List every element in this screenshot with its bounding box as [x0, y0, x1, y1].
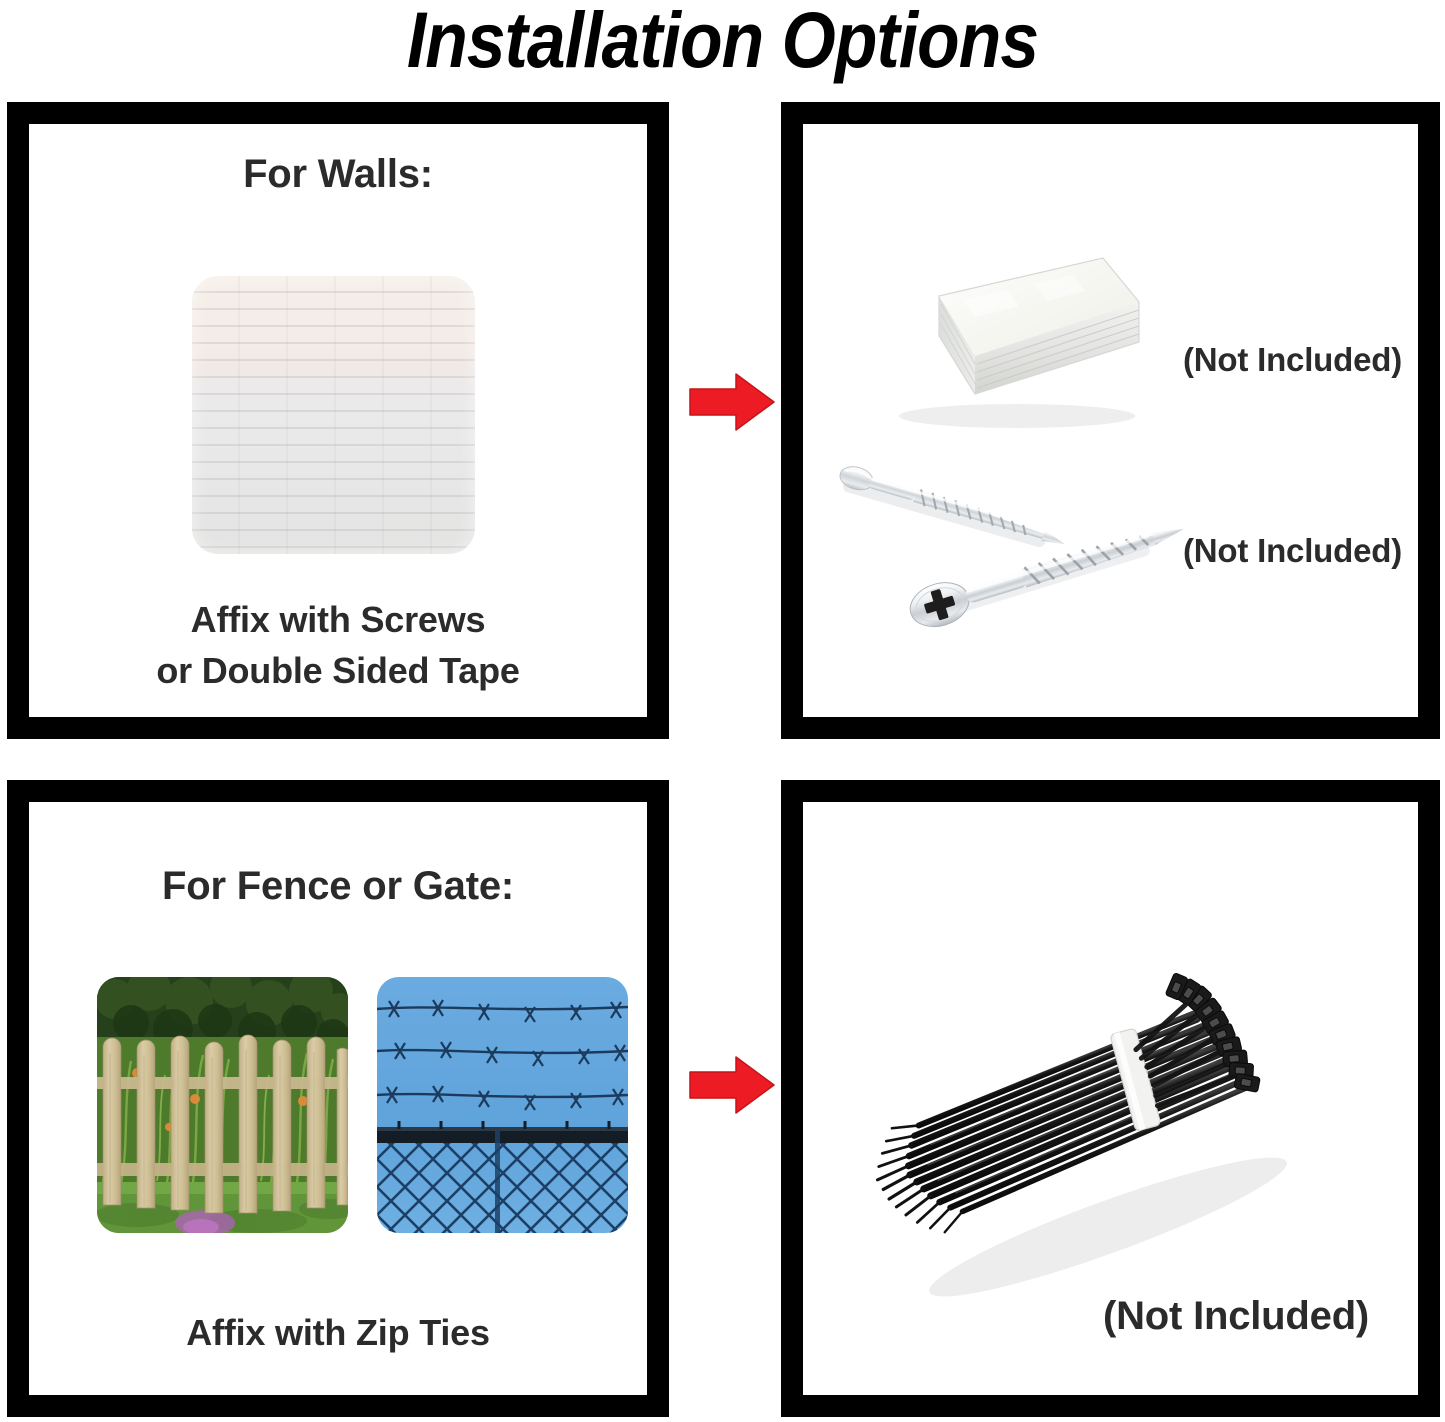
right-arrow-icon-top	[688, 372, 776, 432]
for-walls-caption: Affix with Screws or Double Sided Tape	[29, 594, 647, 696]
wooden-picket-fence-photo	[97, 977, 348, 1233]
for-walls-caption-line1: Affix with Screws	[29, 594, 647, 645]
for-walls-heading: For Walls:	[29, 152, 647, 197]
tape-not-included-label: (Not Included)	[1183, 341, 1402, 379]
for-walls-caption-line2: or Double Sided Tape	[29, 645, 647, 696]
chain-link-barbed-wire-fence-photo	[377, 977, 628, 1233]
panel-wall-hardware: (Not Included)	[781, 102, 1440, 739]
panel-for-walls: For Walls: Affix with Screws or Double S…	[7, 102, 669, 739]
right-arrow-icon-bottom	[688, 1055, 776, 1115]
double-sided-tape-stack	[867, 244, 1147, 434]
for-fence-heading: For Fence or Gate:	[29, 864, 647, 909]
screws-not-included-label: (Not Included)	[1183, 532, 1402, 570]
for-fence-caption-line1: Affix with Zip Ties	[29, 1307, 647, 1358]
white-brick-wall-swatch	[192, 276, 475, 554]
panel-zip-ties: (Not Included)	[781, 780, 1440, 1417]
zipties-not-included-label: (Not Included)	[1103, 1294, 1369, 1339]
for-fence-caption: Affix with Zip Ties	[29, 1307, 647, 1358]
panel-for-fence-or-gate: For Fence or Gate:	[7, 780, 669, 1417]
black-zip-ties-bundle	[858, 907, 1338, 1297]
wood-screws	[831, 454, 1201, 634]
page-title: Installation Options	[87, 0, 1359, 86]
